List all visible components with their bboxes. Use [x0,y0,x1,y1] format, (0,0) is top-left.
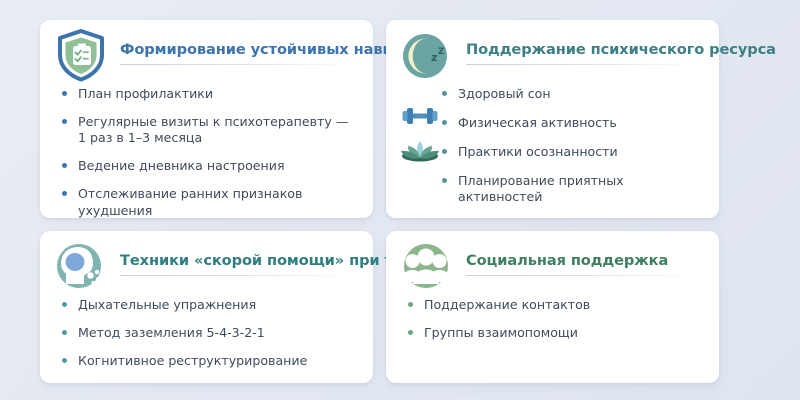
list-item: Когнитивное реструктурирование [62,353,359,369]
bullet-list: Дыхательные упражнения Метод заземления … [40,287,373,369]
moon-sleep-icon: z Z [400,28,454,82]
list-item: Физическая активность [442,115,705,131]
list-item-text: Группы взаимопомощи [424,325,705,341]
card-header: Техники «скорой помощи» при тревоге [40,231,373,287]
list-item-text: Регулярные визиты к психотерапевту — [78,114,359,130]
inline-icon-column [398,76,442,206]
card-title: Формирование устойчивых навыков [120,42,353,59]
list-item: Здоровый сон [442,86,705,102]
list-item-text: Здоровый сон [458,86,705,102]
people-group-icon [400,239,454,293]
shield-checklist-icon [54,28,108,82]
card-title: Социальная поддержка [466,253,699,270]
bullet-list: Здоровый сон Физическая активность Практ… [386,76,719,206]
card-grid: Формирование устойчивых навыков План про… [40,20,748,383]
svg-text:z: z [431,51,437,64]
card-header: Формирование устойчивых навыков [40,20,373,76]
list-item: Метод заземления 5-4-3-2-1 [62,325,359,341]
card-tehniki-skoroy-pomoshchi: Техники «скорой помощи» при тревоге Дыха… [40,231,373,383]
lotus-icon [398,136,442,166]
list-item-text: Ведение дневника настроения [78,158,359,174]
bullet-list: План профилактики Регулярные визиты к пс… [40,76,373,219]
list-item: Ведение дневника настроения [62,158,359,174]
list-item-text: Дыхательные упражнения [78,297,359,313]
card-title-wrap: Поддержание психического ресурса [466,30,699,65]
list-item: Планирование приятных активностей [442,173,705,205]
card-socialnaya-podderzhka: Социальная поддержка Поддержание контакт… [386,231,719,383]
list-item: Поддержание контактов [408,297,705,313]
card-formirovanie-ustoychivyh-navykov: Формирование устойчивых навыков План про… [40,20,373,218]
title-divider [120,275,353,276]
list-item-text: Метод заземления 5-4-3-2-1 [78,325,359,341]
title-divider [466,64,699,65]
card-title: Поддержание психического ресурса [466,42,699,59]
title-divider [466,275,699,276]
list-item-text: Отслеживание ранних признаков ухудшения [78,186,359,218]
list-item: Практики осознанности [442,144,705,160]
list-item: План профилактики [62,86,359,102]
list-item-text: План профилактики [78,86,359,102]
list-item-text: Планирование приятных активностей [458,173,705,205]
bullet-list: Поддержание контактов Группы взаимопомощ… [386,287,719,341]
svg-text:Z: Z [438,47,445,57]
list-item: Регулярные визиты к психотерапевту — 1 р… [62,114,359,146]
list-item-text: Практики осознанности [458,144,705,160]
list-item-text: Когнитивное реструктурирование [78,353,359,369]
infographic-page: Формирование устойчивых навыков План про… [0,0,800,400]
list-item-text: Физическая активность [458,115,705,131]
title-divider [120,64,353,65]
card-title-wrap: Социальная поддержка [466,241,699,276]
list-item: Дыхательные упражнения [62,297,359,313]
card-podderzhanie-psihicheskogo-resursa: z Z Поддержание психического ресурса [386,20,719,218]
dumbbell-icon [398,101,442,131]
card-title-wrap: Техники «скорой помощи» при тревоге [120,241,353,276]
list-item-text: Поддержание контактов [424,297,705,313]
card-title: Техники «скорой помощи» при тревоге [120,253,353,270]
card-header: z Z Поддержание психического ресурса [386,20,719,76]
card-title-wrap: Формирование устойчивых навыков [120,30,353,65]
head-breathing-icon [54,239,108,293]
list-item: Отслеживание ранних признаков ухудшения [62,186,359,218]
card-header: Социальная поддержка [386,231,719,287]
list-item: Группы взаимопомощи [408,325,705,341]
list-item-text-line2: 1 раз в 1–3 месяца [78,130,359,146]
